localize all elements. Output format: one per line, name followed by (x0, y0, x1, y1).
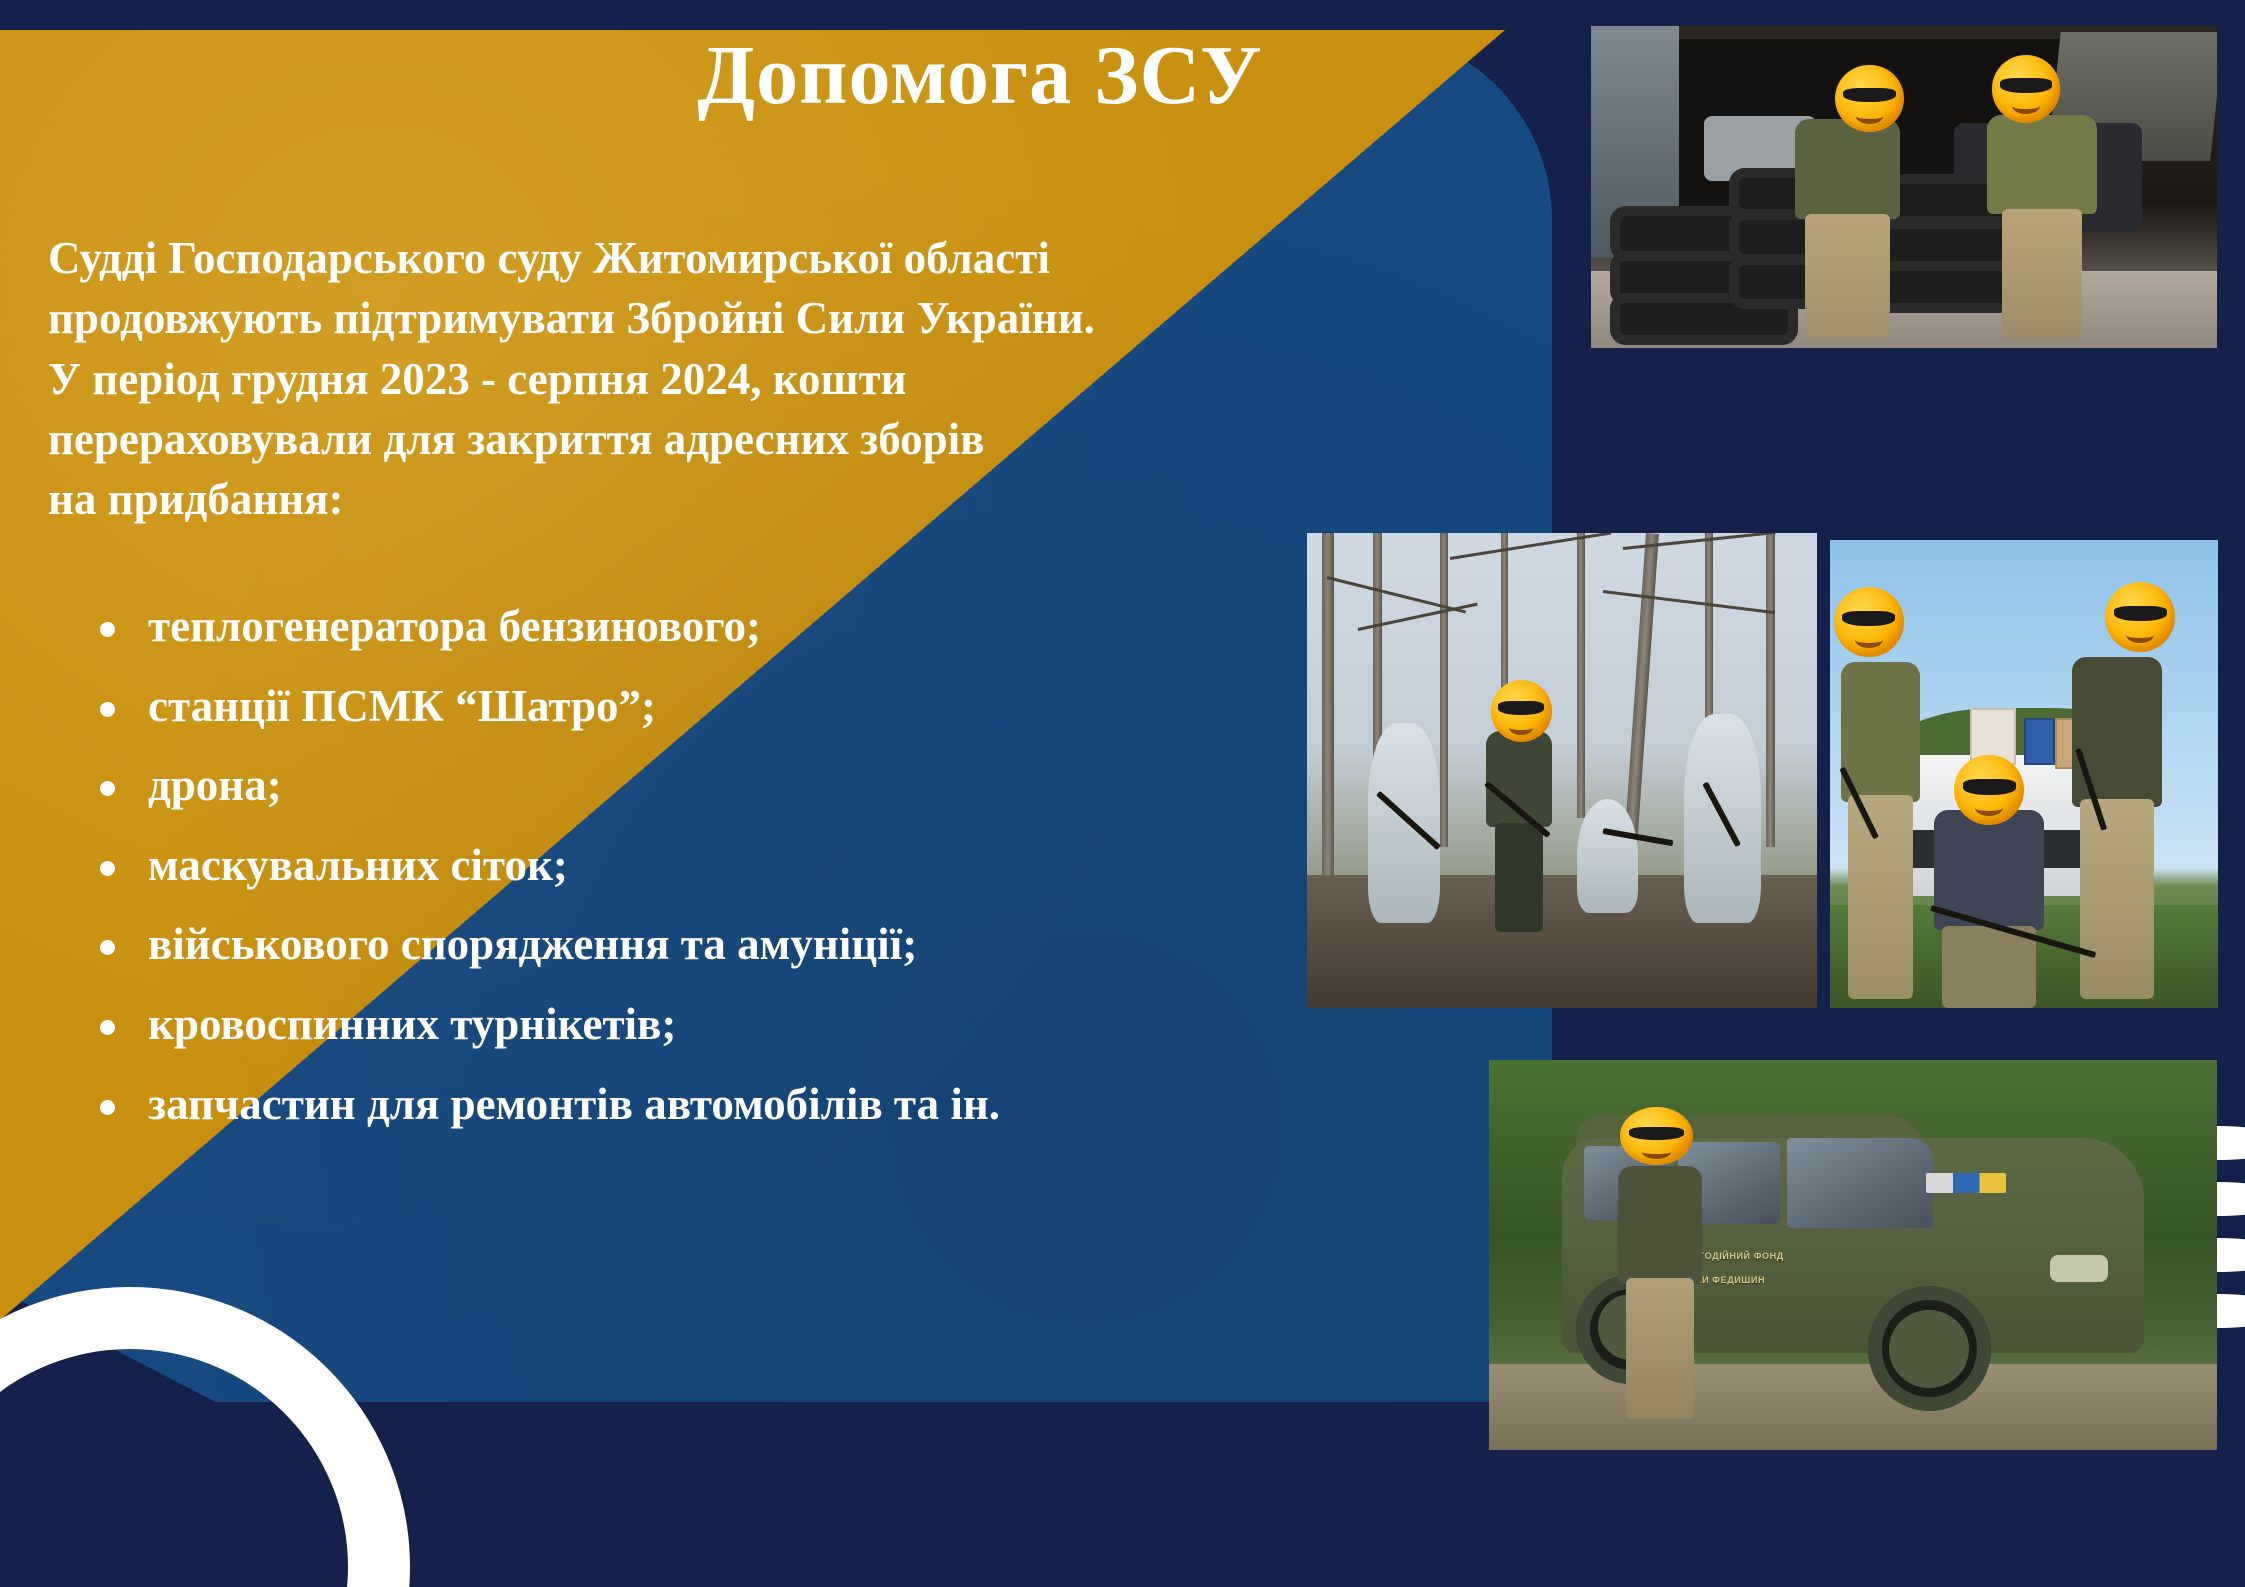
purchase-list: теплогенератора бензинового; станції ПСМ… (90, 598, 1490, 1155)
paragraph-line: У період грудня 2023 - серпня 2024, кошт… (48, 349, 1468, 409)
list-item: запчастин для ремонтів автомобілів та ін… (90, 1076, 1490, 1134)
smiling-face-with-sunglasses-icon (1620, 1107, 1693, 1166)
list-item: теплогенератора бензинового; (90, 598, 1490, 656)
page-title: Допомога ЗСУ (540, 28, 1420, 125)
flag-stickers-icon (1926, 1173, 2006, 1193)
paragraph-line: продовжують підтримувати Збройні Сили Ук… (48, 288, 1468, 348)
smiling-face-with-sunglasses-icon (1835, 65, 1904, 133)
list-item: маскувальних сіток; (90, 837, 1490, 895)
paragraph-line: на придбання: (48, 469, 1468, 529)
smiling-face-with-sunglasses-icon (1992, 55, 2061, 123)
photo-olive-suv-donated: БЛАГОДІЙНИЙ ФОНД ІРИНИ ФЕДИШИН (1489, 1060, 2217, 1450)
list-item: станції ПСМК “Шатро”; (90, 678, 1490, 736)
list-item: дрона; (90, 757, 1490, 815)
paragraph-line: Судді Господарського суду Житомирської о… (48, 228, 1468, 288)
smiling-face-with-sunglasses-icon (1834, 587, 1904, 657)
photo-two-soldiers-with-tyres (1591, 26, 2217, 348)
list-item: військового спорядження та амуніції; (90, 916, 1490, 974)
paragraph-line: перераховували для закриття адресних збо… (48, 409, 1468, 469)
photo-three-soldiers-with-rifles (1830, 540, 2218, 1008)
list-item: кровоспинних турнікетів; (90, 996, 1490, 1054)
body-paragraph: Судді Господарського суду Житомирської о… (48, 228, 1468, 529)
slide-canvas: Допомога ЗСУ Судді Господарського суду Ж… (0, 0, 2245, 1587)
smiling-face-with-sunglasses-icon (1954, 755, 2024, 825)
photo-ghillie-snipers-in-forest (1307, 533, 1817, 1008)
smiling-face-with-sunglasses-icon (1491, 680, 1552, 742)
